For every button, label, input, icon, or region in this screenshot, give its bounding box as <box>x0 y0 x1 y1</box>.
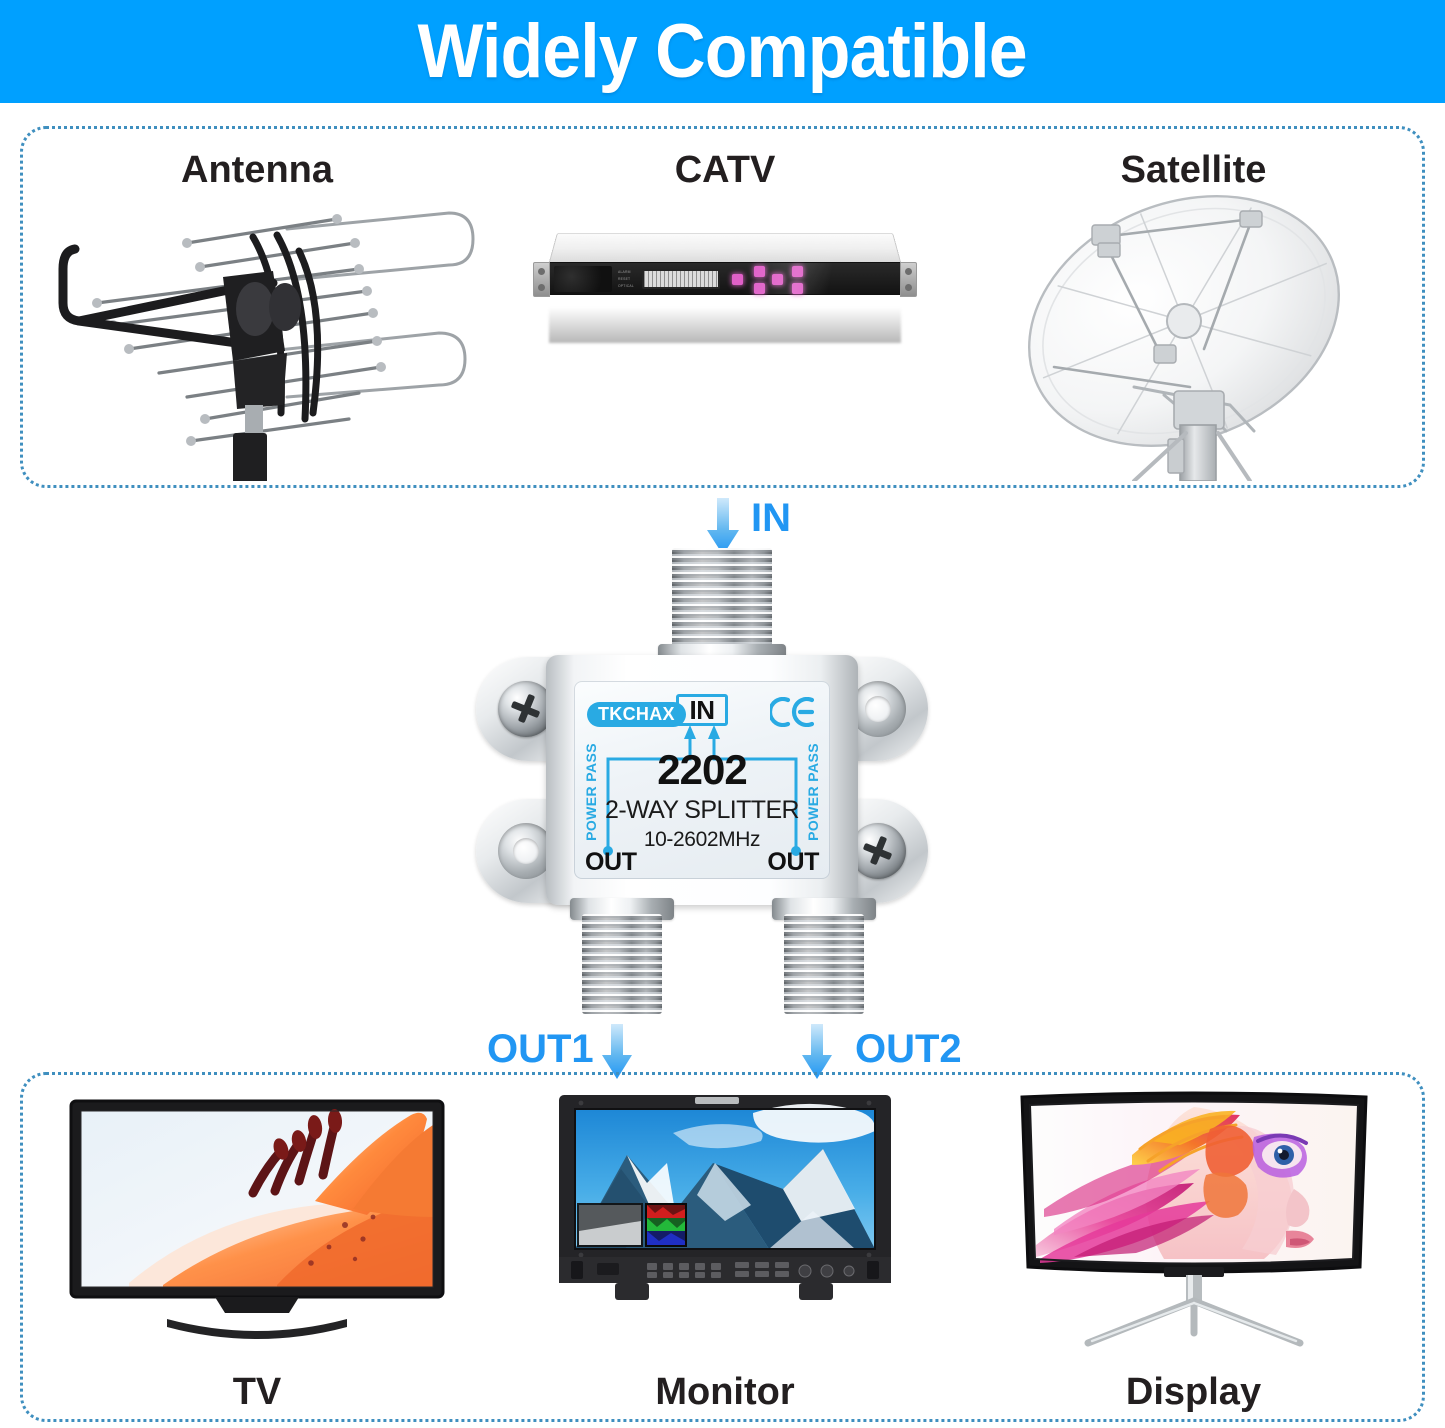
source-item-catv: CATV ALARMRESETOPTICAL <box>491 129 959 485</box>
rack-mount-ear-right <box>900 262 917 297</box>
out-port-label-right: OUT <box>767 850 819 875</box>
flow-label-in: IN <box>751 498 791 538</box>
device-label-tv: TV <box>23 1373 491 1411</box>
rack-front-panel: ALARMRESETOPTICAL <box>549 262 901 295</box>
splitter-housing: TKCHAX IN 2202 2-WAY SPLITTER 10-2602MHz… <box>546 655 858 905</box>
frequency-range: 10-2602MHz <box>574 829 830 850</box>
rack-lcd-display <box>642 269 720 289</box>
flow-label-out1: OUT1 <box>487 1029 594 1069</box>
splitter-type: 2-WAY SPLITTER <box>574 798 830 823</box>
source-item-satellite: Satellite <box>959 129 1428 485</box>
rack-chassis-top <box>549 233 901 262</box>
power-pass-label-left: POWER PASS <box>584 743 598 841</box>
rack-headend-icon: ALARMRESETOPTICAL <box>549 229 901 343</box>
rack-mount-ear-left <box>533 262 550 297</box>
f-connector-out2 <box>784 914 864 1014</box>
flow-label-out2: OUT2 <box>855 1029 962 1069</box>
rack-button-cluster[interactable] <box>732 264 804 294</box>
page-title: Widely Compatible <box>418 14 1027 90</box>
broadcast-monitor-icon <box>491 1091 959 1351</box>
source-item-antenna: Antenna <box>23 129 491 485</box>
page-header-banner: Widely Compatible <box>0 0 1445 103</box>
mounting-hole-top-right <box>850 681 906 737</box>
brand-logo: TKCHAX <box>587 702 686 727</box>
satellite-dish-icon <box>959 181 1428 481</box>
curved-display-icon <box>959 1089 1428 1357</box>
rack-reflection <box>549 297 901 343</box>
splitter-label-face: TKCHAX IN 2202 2-WAY SPLITTER 10-2602MHz… <box>574 681 830 879</box>
rack-vent-left <box>554 266 612 292</box>
source-label-catv: CATV <box>491 151 959 189</box>
device-label-monitor: Monitor <box>491 1373 959 1411</box>
power-pass-label-right: POWER PASS <box>806 743 820 841</box>
device-item-monitor: Monitor <box>491 1075 959 1419</box>
device-item-tv: TV <box>23 1075 491 1419</box>
splitter-body: TKCHAX IN 2202 2-WAY SPLITTER 10-2602MHz… <box>476 655 928 905</box>
in-port-marking: IN <box>676 694 728 726</box>
phillips-screw-bottom-right[interactable] <box>850 823 906 879</box>
tv-antenna-icon <box>23 191 491 481</box>
f-connector-out1 <box>582 914 662 1014</box>
out-port-label-left: OUT <box>585 850 637 875</box>
flatscreen-tv-icon <box>23 1097 491 1357</box>
ce-mark-icon <box>770 697 814 731</box>
device-item-display: Display <box>959 1075 1428 1419</box>
signal-sources-panel: Antenna <box>20 126 1425 488</box>
device-label-display: Display <box>959 1373 1428 1411</box>
rack-status-leds: ALARMRESETOPTICAL <box>618 270 634 288</box>
output-devices-panel: TV <box>20 1072 1425 1422</box>
in-port-label: IN <box>690 697 715 723</box>
model-number: 2202 <box>574 749 830 791</box>
source-label-antenna: Antenna <box>23 151 491 189</box>
